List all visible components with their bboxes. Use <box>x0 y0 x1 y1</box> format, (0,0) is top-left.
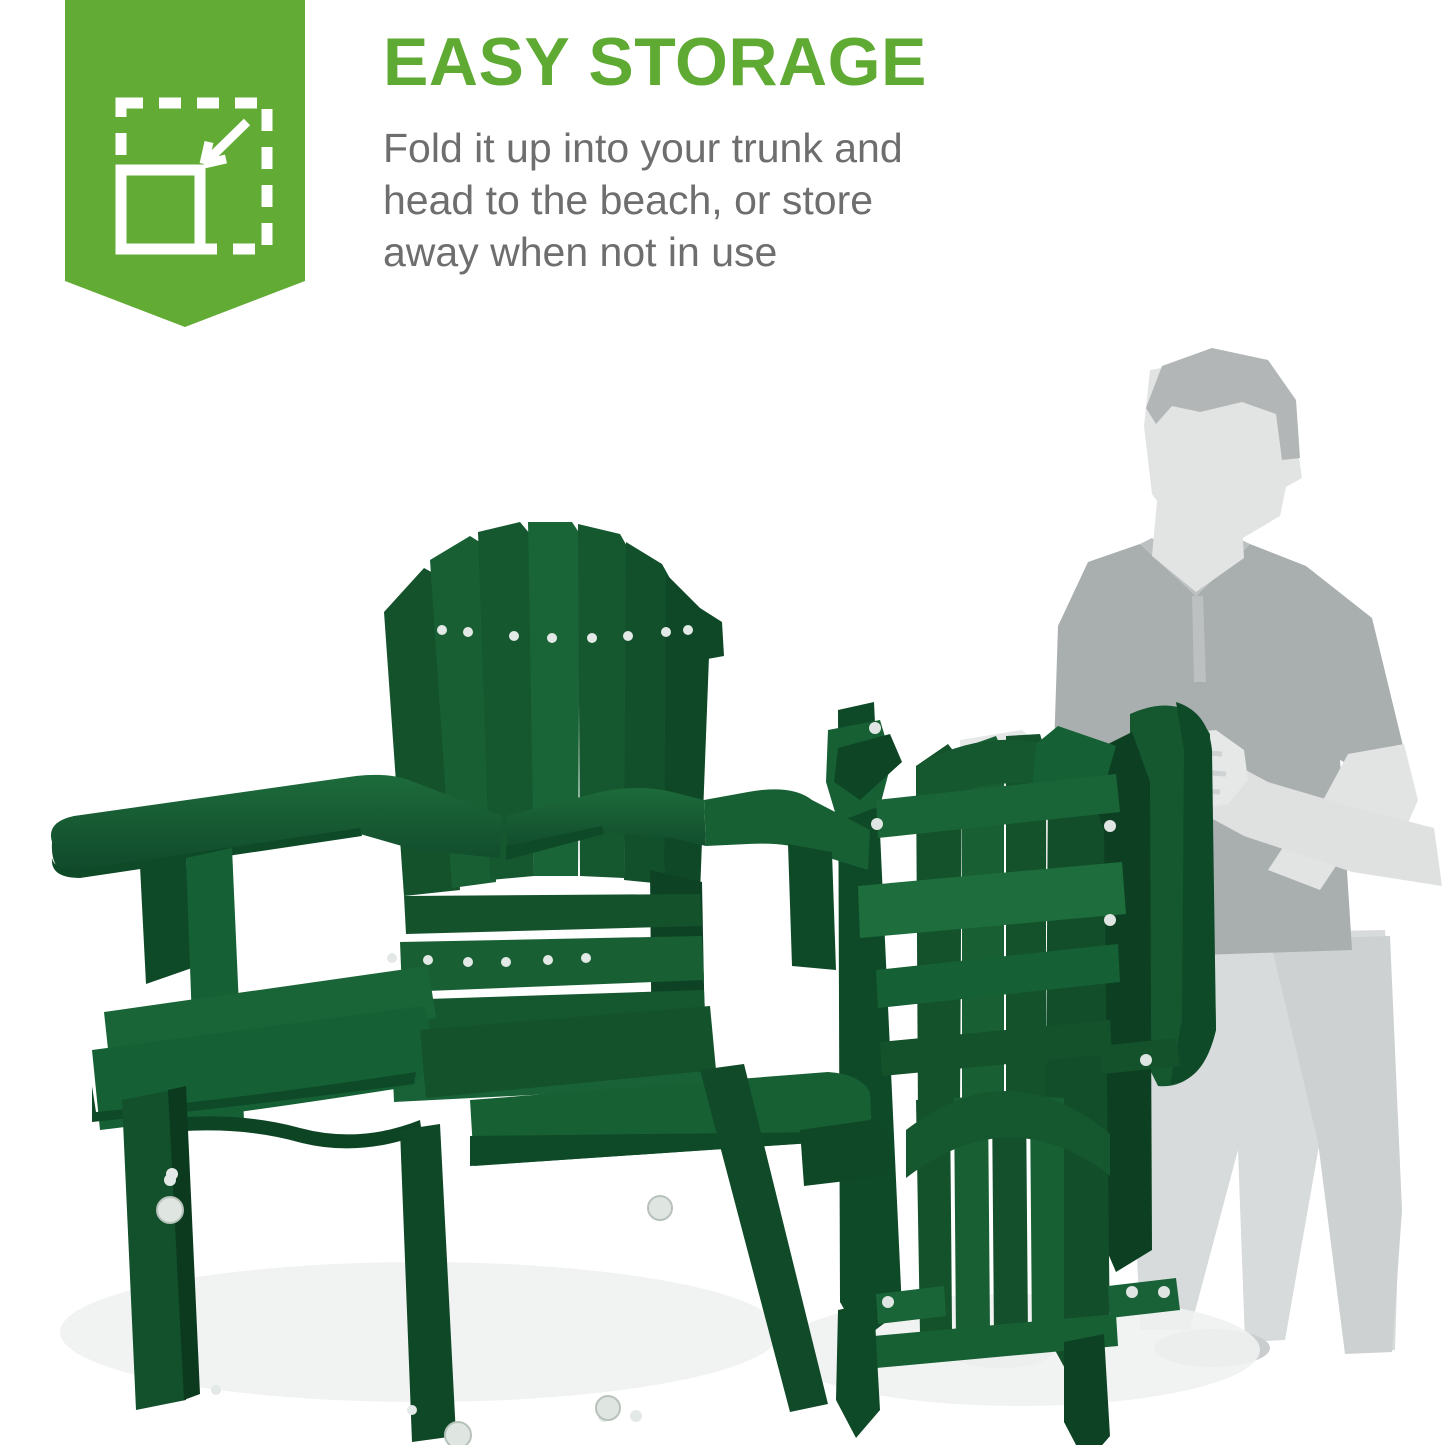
page-title: EASY STORAGE <box>383 28 1083 96</box>
subtitle-line-1: Fold it up into your trunk and <box>383 122 1083 174</box>
feature-banner <box>65 0 305 327</box>
folded-foot-left <box>836 1302 880 1438</box>
chair-arm-support-left <box>140 858 192 984</box>
header-text-block: EASY STORAGE Fold it up into your trunk … <box>383 28 1083 278</box>
subtitle-line-3: away when not in use <box>383 226 1083 278</box>
chair-back-notch <box>700 608 724 660</box>
folded-foot-right <box>1064 1334 1110 1445</box>
page-subtitle: Fold it up into your trunk and head to t… <box>383 122 1083 278</box>
chair-arm-support-right <box>788 844 836 970</box>
chair-front-rail-scallop <box>150 1116 422 1148</box>
subtitle-line-2: head to the beach, or store <box>383 174 1083 226</box>
chair-foot-right <box>800 1120 890 1186</box>
marketing-image-canvas: EASY STORAGE Fold it up into your trunk … <box>0 0 1445 1445</box>
product-artwork <box>0 330 1445 1445</box>
